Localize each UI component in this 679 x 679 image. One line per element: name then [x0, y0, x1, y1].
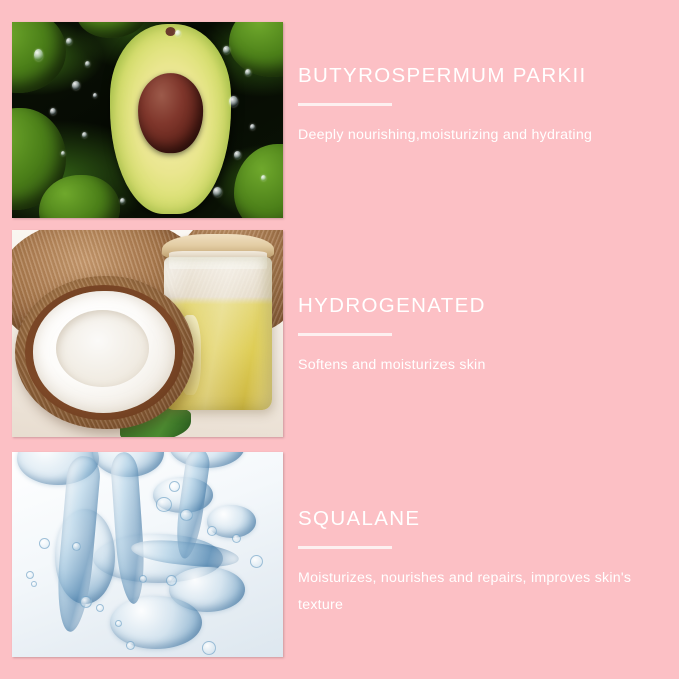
avocado-half — [110, 24, 232, 214]
title-divider — [298, 546, 392, 549]
avocado-photo — [12, 22, 283, 218]
ingredient-title: SQUALANE — [298, 507, 670, 531]
gel-bubble — [115, 620, 122, 627]
coconut-cavity — [56, 310, 149, 388]
coconut-half-open — [15, 276, 194, 429]
gel-bubble — [80, 596, 92, 608]
coconut-inner-rim — [25, 285, 182, 420]
gel-bubble — [72, 542, 81, 551]
water-droplet — [34, 49, 43, 61]
ingredient-description: Moisturizes, nourishes and repairs, impr… — [298, 565, 670, 619]
ingredient-description: Deeply nourishing,moisturizing and hydra… — [298, 122, 610, 149]
coconut-oil-photo — [12, 230, 283, 437]
gel-blob — [110, 596, 202, 649]
water-droplet — [66, 38, 72, 45]
gel-bubble — [202, 641, 216, 655]
gel-bubble — [96, 604, 104, 612]
title-divider — [298, 103, 392, 106]
ingredient-title: BUTYROSPERMUM PARKII — [298, 64, 670, 88]
ingredient-title: HYDROGENATED — [298, 294, 670, 318]
gel-bubble — [250, 555, 263, 568]
water-droplet — [213, 187, 222, 197]
water-droplet — [72, 81, 80, 90]
ingredient-info-hydrogenated: HYDROGENATED Softens and moisturizes ski… — [298, 294, 670, 379]
ingredient-info-squalane: SQUALANE Moisturizes, nourishes and repa… — [298, 507, 670, 619]
ingredient-infographic: BUTYROSPERMUM PARKII Deeply nourishing,m… — [0, 0, 679, 679]
gel-bubble — [156, 497, 172, 512]
gel-bubble — [26, 571, 34, 579]
gel-bubble — [169, 481, 180, 492]
title-divider — [298, 333, 392, 336]
gel-bubble — [207, 526, 217, 536]
ingredient-info-butyrospermum-parkii: BUTYROSPERMUM PARKII Deeply nourishing,m… — [298, 64, 670, 149]
water-droplet — [93, 93, 97, 98]
gel-bubble — [232, 534, 241, 543]
avocado-pit — [138, 73, 204, 153]
coconut-white-flesh — [33, 291, 175, 412]
gel-bubble — [126, 641, 135, 650]
gel-texture-photo — [12, 452, 283, 657]
ingredient-description: Softens and moisturizes skin — [298, 352, 638, 379]
water-droplet — [223, 46, 230, 54]
water-droplet — [175, 30, 181, 37]
